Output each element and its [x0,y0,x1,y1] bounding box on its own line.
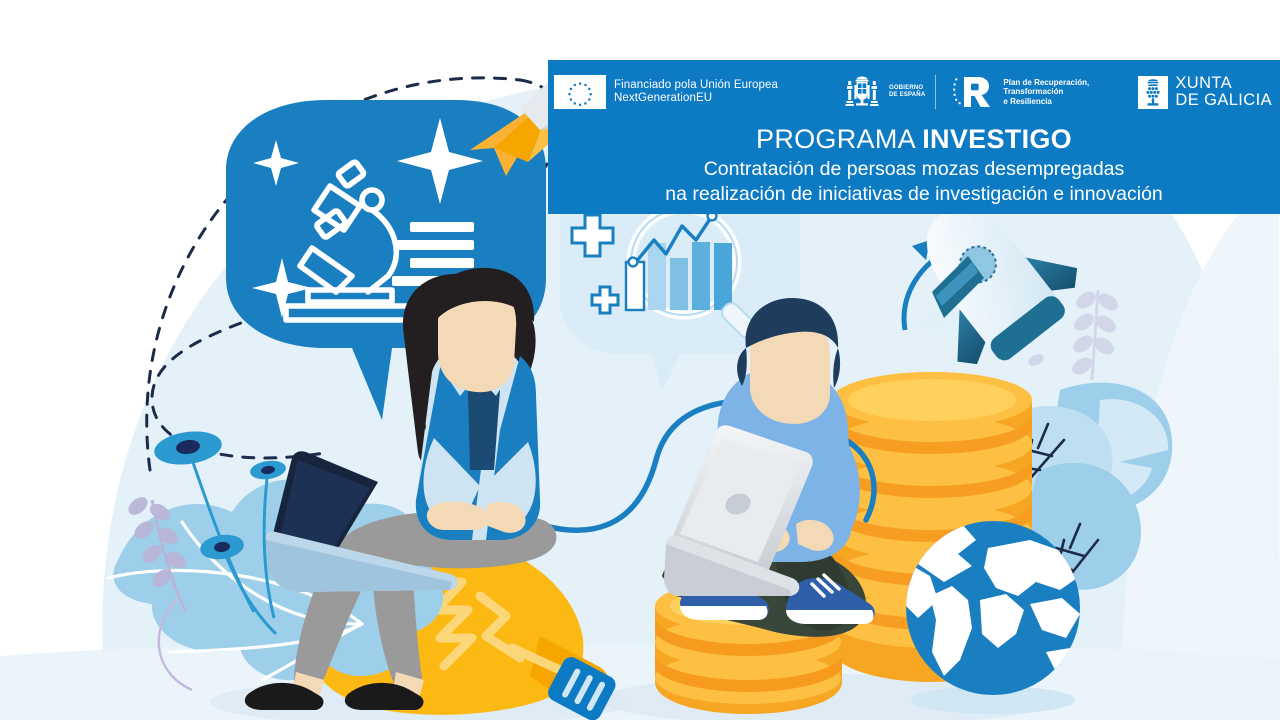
gobierno-logo: GOBIERNO DE ESPAÑA [840,75,925,109]
eu-logo-line1: Financiado pola Unión Europea [614,79,778,91]
program-name: INVESTIGO [922,124,1072,154]
prtr-logo: Plan de Recuperación, Transformación e R… [952,74,1089,110]
prtr-logo-text: Plan de Recuperación, Transformación e R… [1003,78,1089,107]
gobierno-logo-text: GOBIERNO DE ESPAÑA [889,85,925,100]
xunta-de-galicia-shield-icon [1138,76,1168,109]
eu-logo-text: Financiado pola Unión Europea NextGenera… [614,79,778,106]
prtr-r-logo-icon [952,74,996,110]
banner-logo-row: Financiado pola Unión Europea NextGenera… [548,60,1280,118]
gobierno-line1: GOBIERNO [889,85,923,91]
logo-divider [935,75,936,109]
xunta-logo: XUNTA DE GALICIA [1138,75,1272,109]
prtr-line3: e Resiliencia [1003,97,1051,106]
prtr-line1: Plan de Recuperación, [1003,78,1089,87]
funding-banner: Financiado pola Unión Europea NextGenera… [548,60,1280,214]
prtr-line2: Transformación [1003,87,1063,96]
page-subtitle: Contratación de persoas mozas desemprega… [548,157,1280,207]
subtitle-line-1: Contratación de persoas mozas desemprega… [704,158,1125,180]
eu-logo: Financiado pola Unión Europea NextGenera… [554,75,778,109]
page-title: PROGRAMA INVESTIGO [548,124,1280,154]
gobierno-de-espana-coat-of-arms-icon [840,75,884,109]
program-label: PROGRAMA [756,124,922,154]
xunta-logo-text: XUNTA DE GALICIA [1175,75,1272,109]
gobierno-line2: DE ESPAÑA [889,92,925,98]
xunta-line1: XUNTA [1175,74,1232,92]
xunta-line2: DE GALICIA [1175,91,1272,109]
subtitle-line-2: na realización de iniciativas de investi… [665,183,1163,205]
eu-logo-line2: NextGenerationEU [614,92,712,104]
eu-flag-icon [554,75,606,109]
poster-canvas: Financiado pola Unión Europea NextGenera… [0,0,1280,720]
